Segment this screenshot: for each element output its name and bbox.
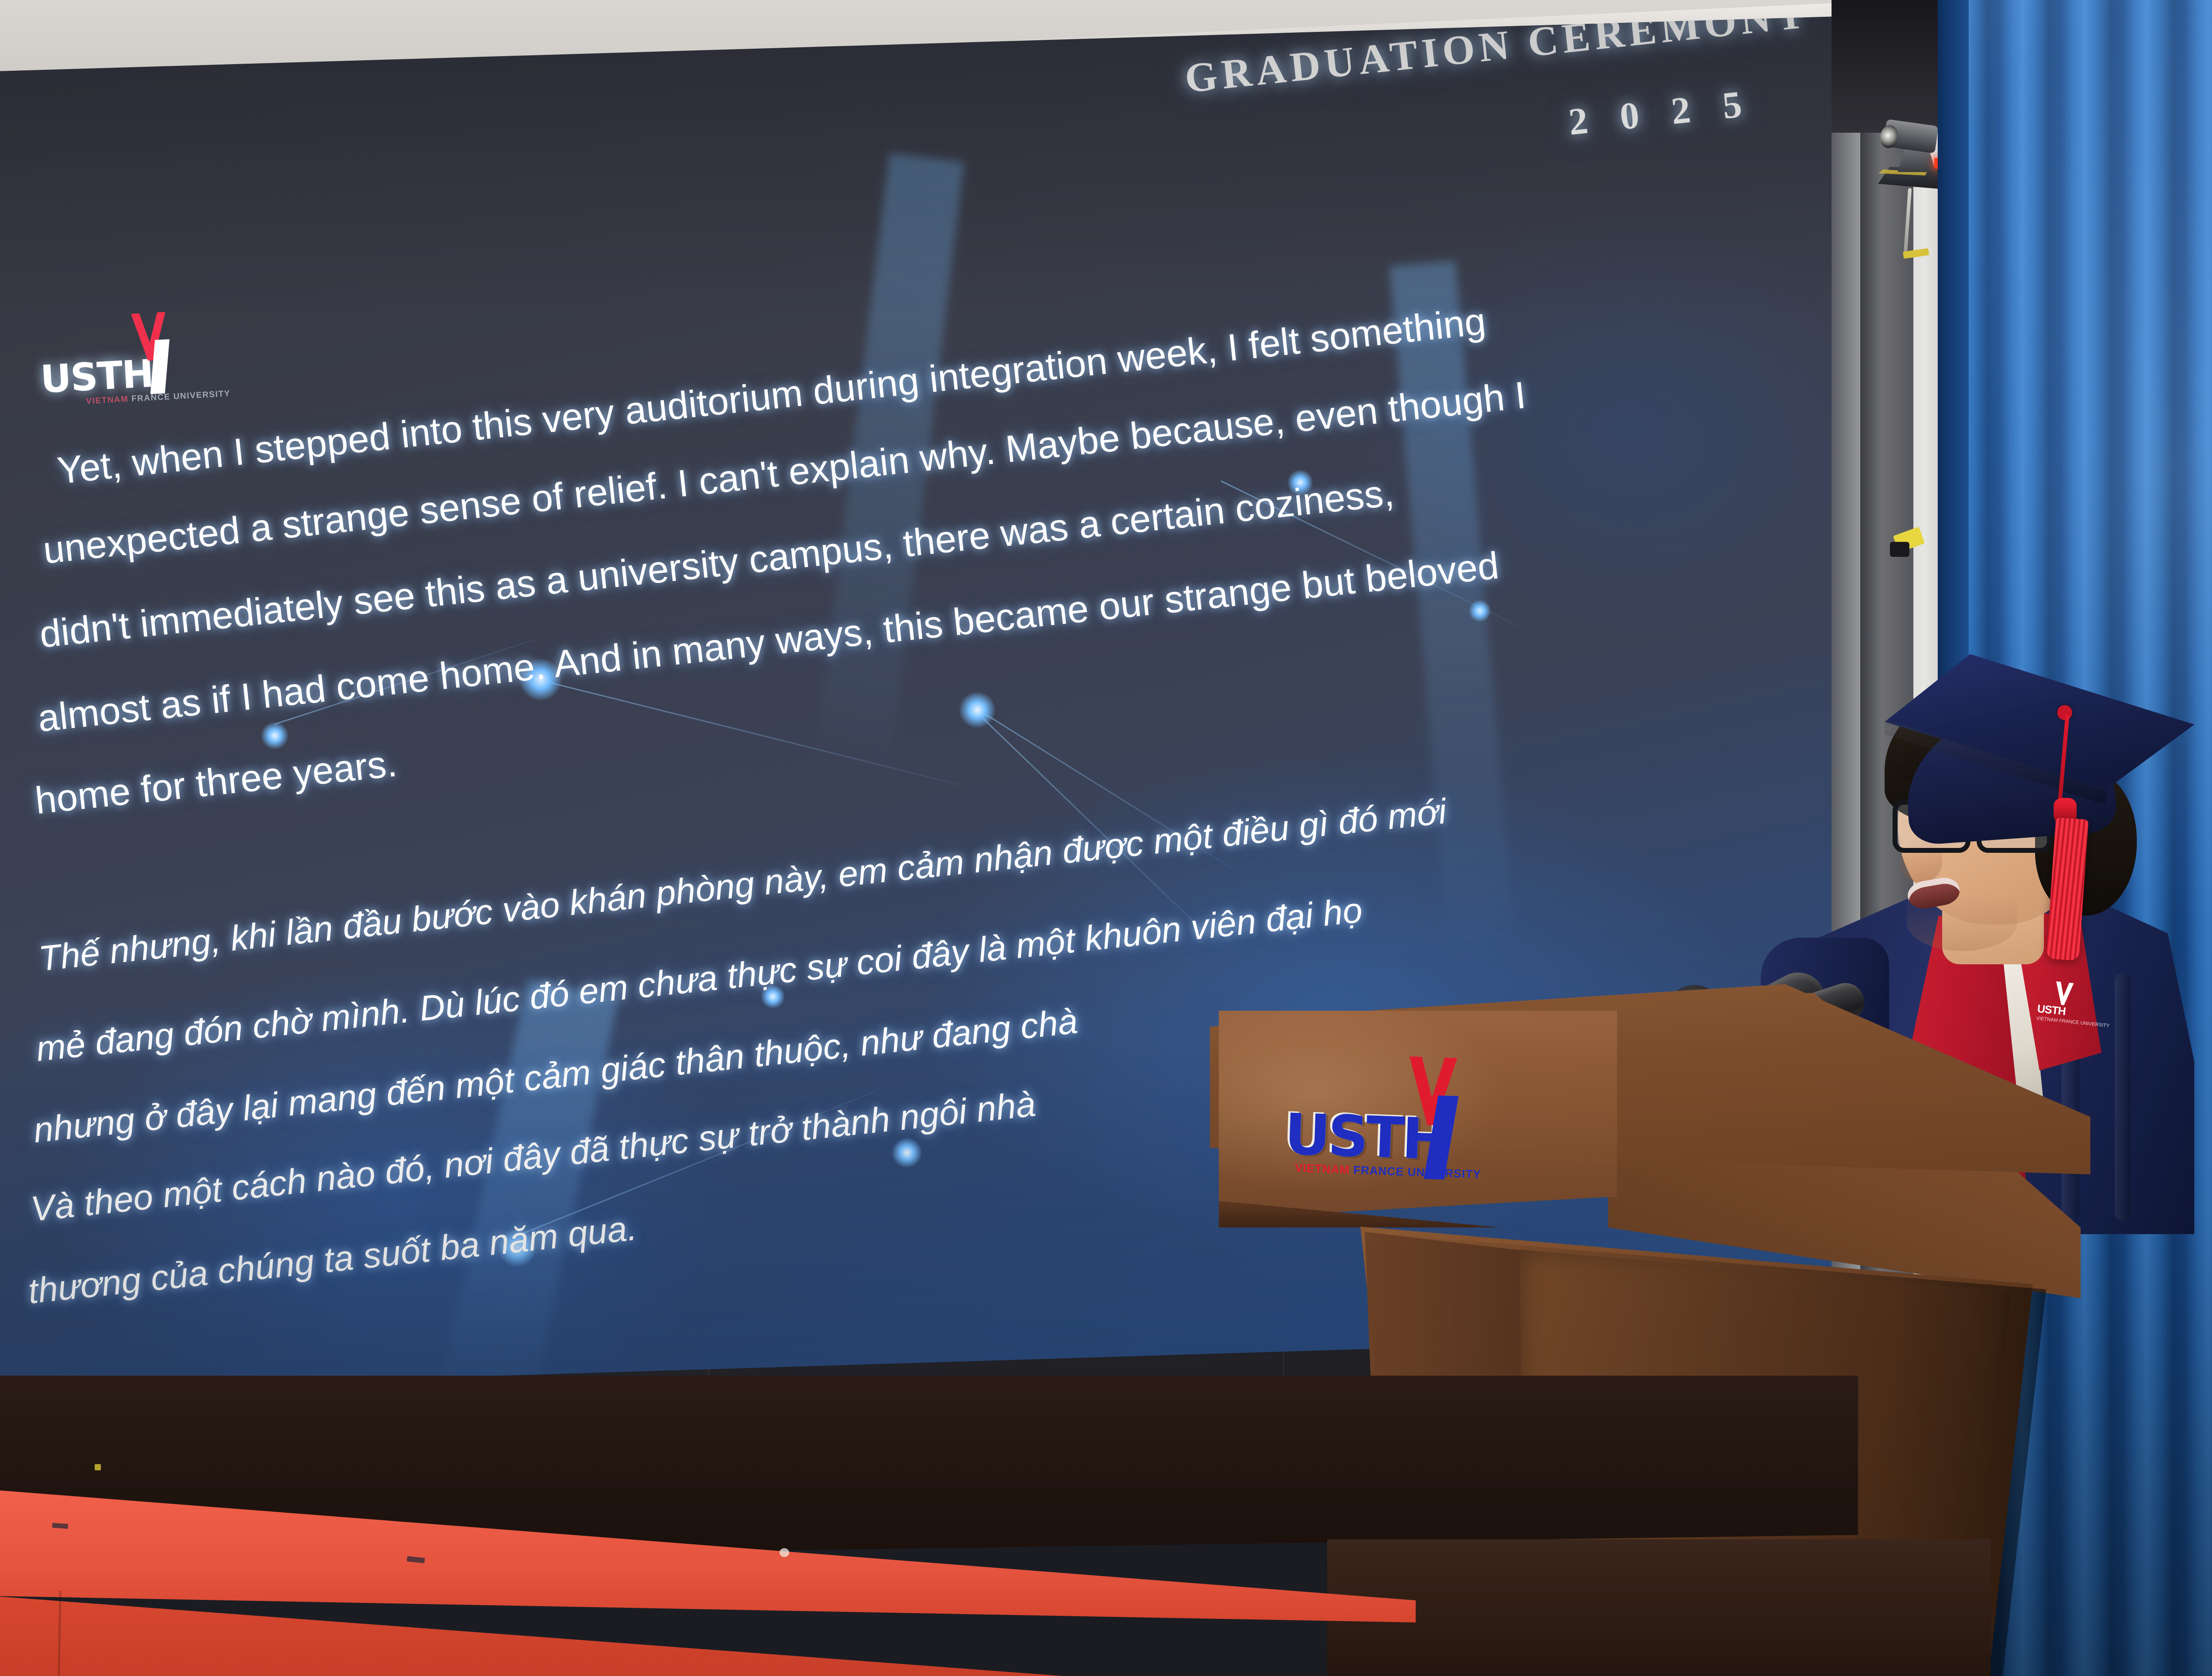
gown-fold xyxy=(2115,973,2131,1221)
floor-debris xyxy=(95,1464,101,1470)
podium-logo-tagline-red: VIETNAM xyxy=(1295,1161,1350,1176)
floor-far xyxy=(1327,1539,1991,1676)
mortarboard-button xyxy=(2057,705,2072,720)
english-line: home for three years. xyxy=(33,741,399,823)
photo-scene: USTH VIETNAM FRANCE UNIVERSITY GRADUATIO… xyxy=(0,0,2212,1676)
floor-debris xyxy=(780,1548,789,1557)
network-node xyxy=(261,722,288,749)
podium-usth-logo: USTH VIETNAM FRANCE UNIVERSITY xyxy=(1283,1049,1509,1189)
slide-year: 2 0 2 5 xyxy=(1567,81,1755,144)
podium-logo-tagline: VIETNAM FRANCE UNIVERSITY xyxy=(1294,1161,1481,1181)
vietnamese-line: Thế nhưng, khi lần đầu bước vào khán phò… xyxy=(37,791,1448,979)
slide-logo-tagline-red: VIETNAM xyxy=(86,395,129,406)
podium-logo-tagline-rest: FRANCE UNIVERSITY xyxy=(1353,1163,1481,1181)
network-node xyxy=(892,1138,922,1168)
slide-usth-logo: USTH VIETNAM FRANCE UNIVERSITY xyxy=(37,310,184,419)
cable-clip xyxy=(1890,542,1909,557)
network-node xyxy=(959,692,995,728)
